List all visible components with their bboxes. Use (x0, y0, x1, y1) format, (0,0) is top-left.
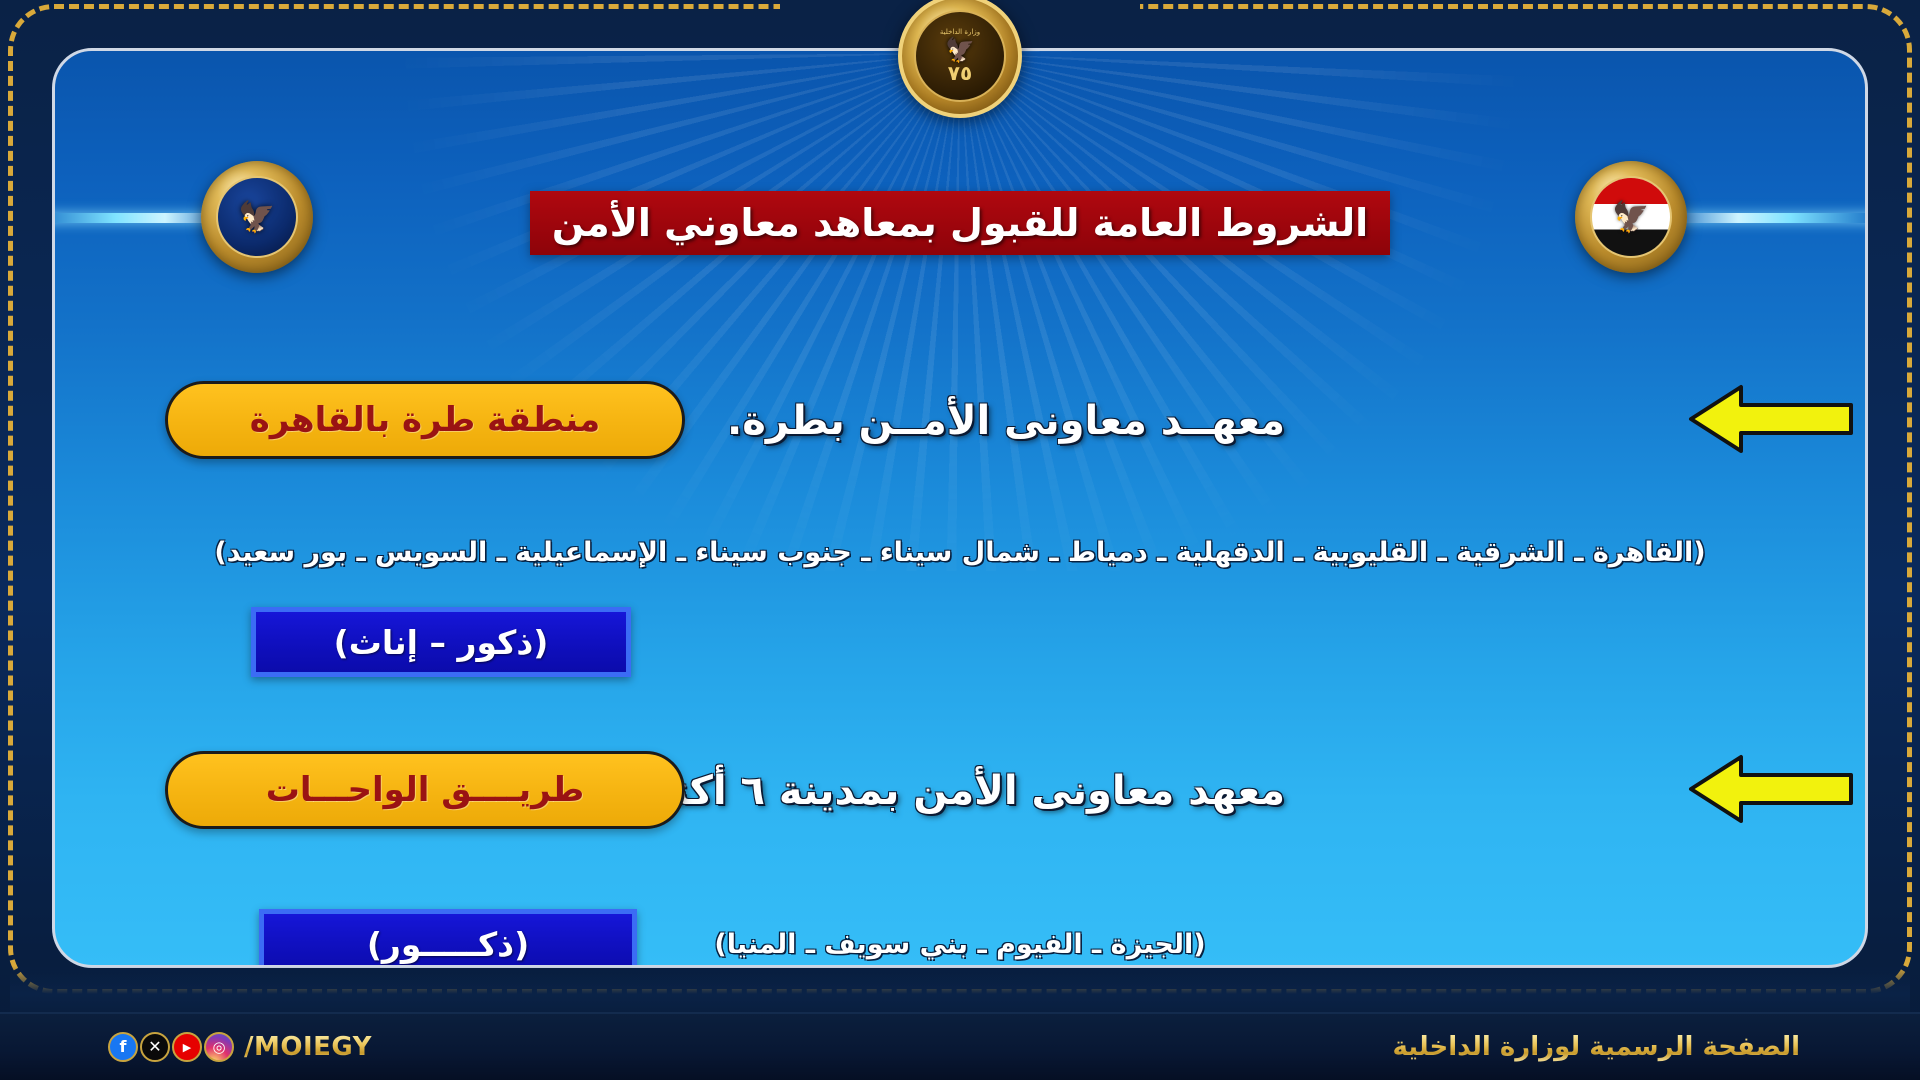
footer-official-text: الصفحة الرسمية لوزارة الداخلية (1393, 1032, 1801, 1062)
institute-governorates-1: (القاهرة ـ الشرقية ـ القليوبية ـ الدقهلي… (55, 537, 1865, 568)
institute-block-1: معهــد معاونى الأمــن بطرة. منطقة طرة با… (55, 381, 1865, 463)
egypt-flag-icon: 🦅 (1590, 176, 1672, 258)
institute-name-2: معهد معاونى الأمن بمدينة ٦ أكتوبر. (593, 768, 1285, 814)
poster-root: 🦅 🦅 الشروط العامة للقبول بمعاهد معاوني ا… (0, 0, 1920, 1080)
footer-bar: f ✕ ▶ ◎ /MOIEGY الصفحة الرسمية لوزارة ال… (0, 1012, 1920, 1080)
institute-location-label-1: منطقة طرة بالقاهرة (250, 400, 600, 440)
emblem-disc-left: 🦅 (201, 161, 313, 273)
instagram-icon[interactable]: ◎ (204, 1032, 234, 1062)
youtube-icon[interactable]: ▶ (172, 1032, 202, 1062)
institute-row-2: معهد معاونى الأمن بمدينة ٦ أكتوبر. طريــ… (55, 751, 1865, 833)
medal-number: ٧٥ (948, 63, 972, 83)
page-title-banner: الشروط العامة للقبول بمعاهد معاوني الأمن (530, 191, 1390, 255)
pointer-arrow-icon-2 (1685, 753, 1855, 825)
medal-eagle-icon: 🦅 (945, 38, 975, 62)
institute-location-label-2: طريــــق الواحـــات (266, 770, 585, 810)
social-handle[interactable]: /MOIEGY (244, 1032, 372, 1062)
institute-location-pill-1[interactable]: منطقة طرة بالقاهرة (165, 381, 685, 459)
content-card: 🦅 🦅 الشروط العامة للقبول بمعاهد معاوني ا… (52, 48, 1868, 968)
eagle-glyph-icon: 🦅 (1612, 200, 1649, 235)
institute-name-1: معهــد معاونى الأمــن بطرة. (727, 398, 1285, 444)
medal-inner: وزارة الداخلية 🦅 ٧٥ (914, 10, 1006, 102)
emblem-disc-right: 🦅 (1575, 161, 1687, 273)
institute-gender-badge-1: (ذكور – إناث) (251, 607, 631, 677)
pointer-arrow-icon-1 (1685, 383, 1855, 455)
sunburst-rays-decoration (360, 48, 1560, 571)
institute-gender-label-2: (ذكـــــور) (367, 925, 529, 964)
ministry-of-interior-emblem: 🦅 (1555, 161, 1707, 273)
institute-gender-badge-2: (ذكـــــور) (259, 909, 637, 968)
facebook-icon[interactable]: f (108, 1032, 138, 1062)
social-links: f ✕ ▶ ◎ /MOIEGY (108, 1032, 372, 1062)
medal-arc-text: وزارة الداخلية (940, 29, 980, 36)
institute-name-wrapper-2: معهد معاونى الأمن بمدينة ٦ أكتوبر. (775, 755, 1345, 827)
institute-row-1: معهــد معاونى الأمــن بطرة. منطقة طرة با… (55, 381, 1865, 463)
institute-name-wrapper-1: معهــد معاونى الأمــن بطرة. (775, 385, 1345, 457)
police-eagle-emblem: 🦅 (181, 161, 333, 273)
institute-block-2: معهد معاونى الأمن بمدينة ٦ أكتوبر. طريــ… (55, 751, 1865, 833)
x-twitter-icon[interactable]: ✕ (140, 1032, 170, 1062)
institute-location-pill-2[interactable]: طريــــق الواحـــات (165, 751, 685, 829)
institute-gender-label-1: (ذكور – إناث) (334, 623, 549, 662)
eagle-icon: 🦅 (216, 176, 298, 258)
page-title: الشروط العامة للقبول بمعاهد معاوني الأمن (552, 201, 1368, 245)
